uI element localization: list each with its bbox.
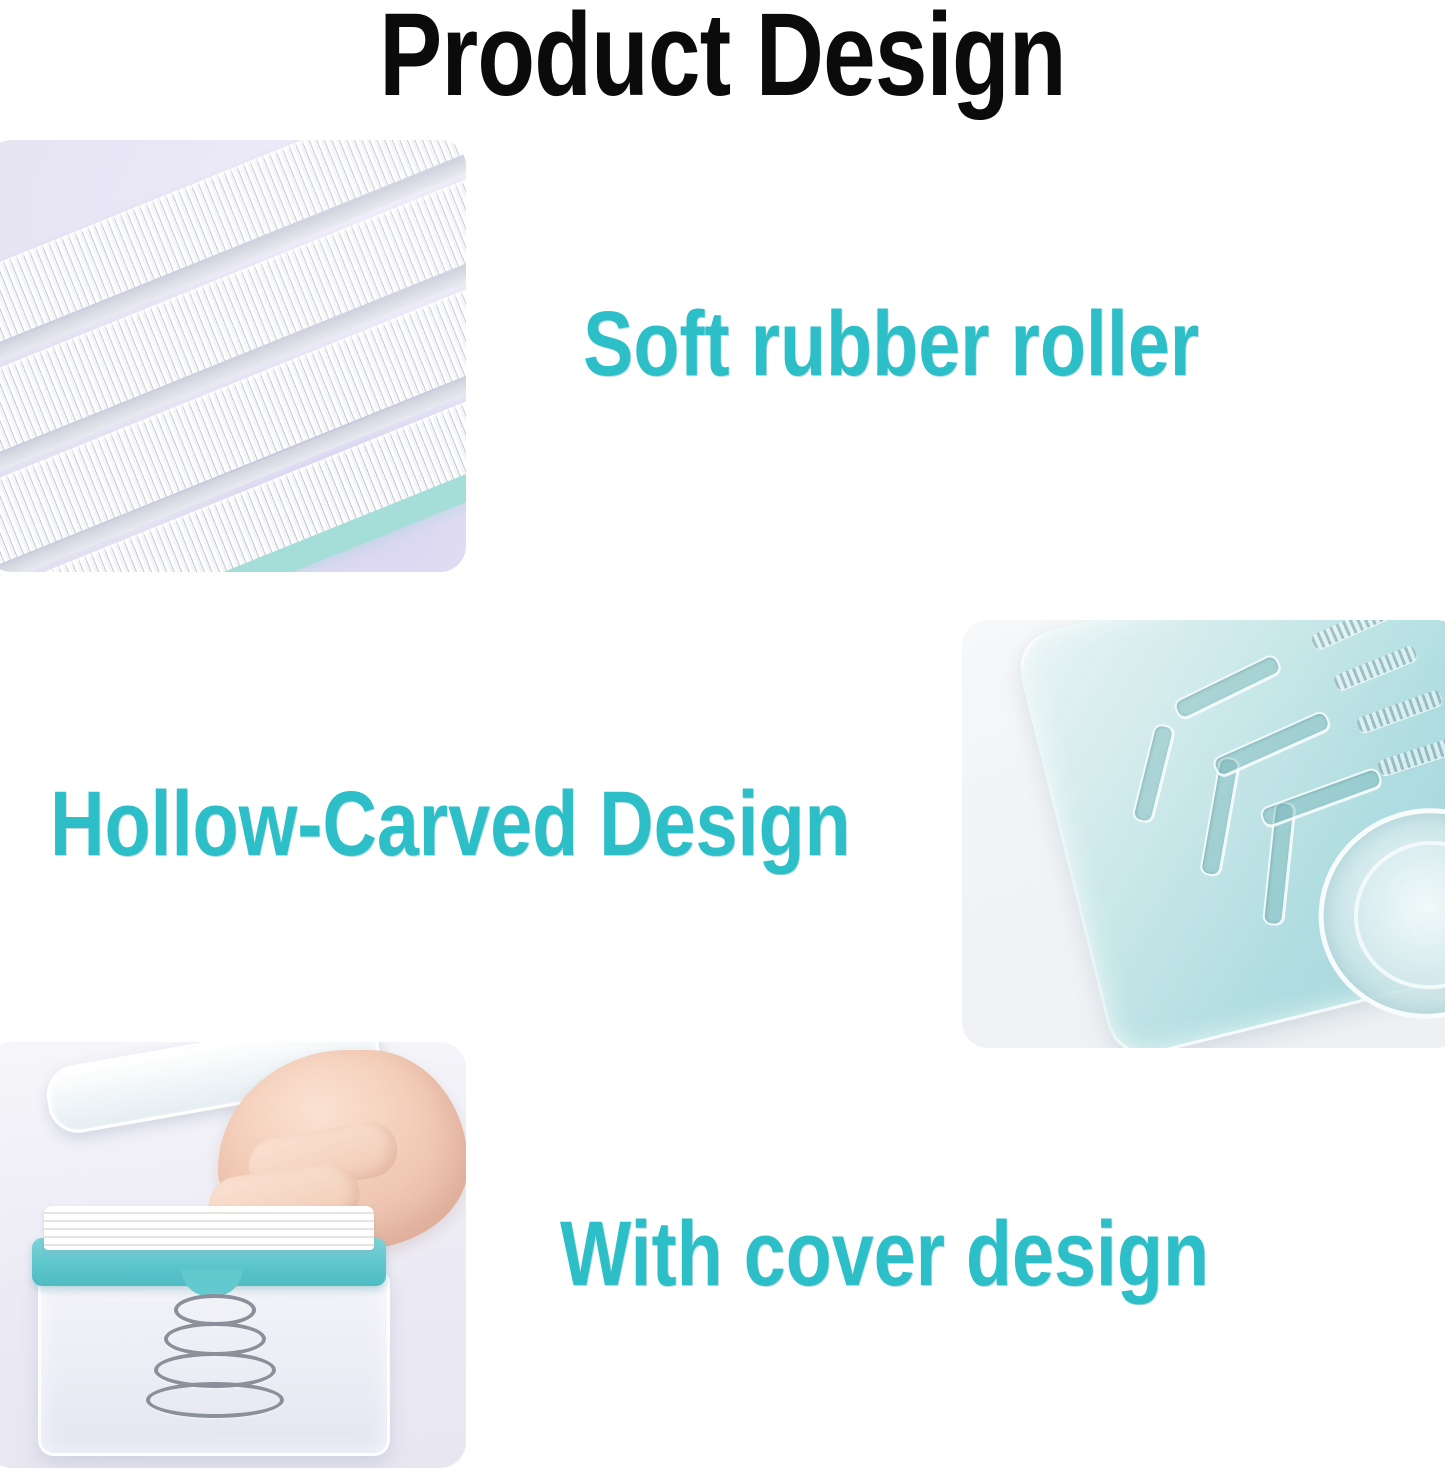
carved-slot [1258,766,1384,829]
transparent-base [1012,620,1445,1048]
feature-image-with-cover-design [0,1042,466,1468]
carved-vent-row [1356,689,1444,734]
carved-vent-row [1377,735,1445,777]
roller-bars [44,1206,374,1250]
spring [146,1294,276,1410]
mint-frame [0,140,466,572]
spring-coil [164,1322,266,1356]
caption-soft-rubber-roller: Soft rubber roller [583,298,1199,390]
caption-hollow-carved-design: Hollow-Carved Design [50,778,851,870]
carved-vent-row [1310,620,1391,651]
carved-slot [1172,652,1284,721]
feature-image-hollow-carved-design [962,620,1445,1048]
carved-slot [1131,722,1176,824]
caption-with-cover-design: With cover design [560,1208,1209,1300]
drain-circle-inner [1338,825,1445,1006]
page-title: Product Design [145,0,1301,114]
drain-circle [1296,785,1445,1042]
spring-coil [146,1382,284,1418]
feature-image-soft-rubber-roller [0,140,466,572]
carved-vent-row [1332,645,1418,692]
carved-slot [1211,709,1333,779]
